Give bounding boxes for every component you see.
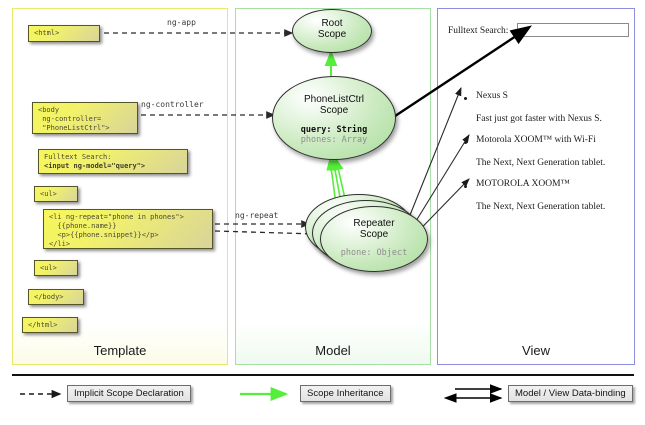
label-ng-app: ng-app bbox=[167, 18, 196, 27]
code-box-html-open: <html> bbox=[28, 25, 100, 42]
repeater-scope-prop-phone: phone: Object bbox=[321, 248, 427, 258]
view-item-snippet: The Next, Next Generation tablet. bbox=[476, 202, 605, 212]
root-scope-title-1: Root bbox=[293, 18, 371, 29]
node-root-scope: Root Scope bbox=[292, 9, 372, 53]
code-box-fulltext-search: Fulltext Search: <input ng-model="query"… bbox=[38, 149, 188, 174]
label-ng-repeat: ng-repeat bbox=[235, 211, 278, 220]
phonelist-scope-title-2: Scope bbox=[273, 105, 395, 116]
panel-model-label: Model bbox=[236, 343, 430, 358]
root-scope-title-2: Scope bbox=[293, 29, 371, 40]
view-item-snippet: Fast just got faster with Nexus S. bbox=[476, 114, 602, 124]
code-search-label: Fulltext Search: bbox=[44, 153, 111, 161]
phonelist-scope-prop-phones: phones: Array bbox=[273, 135, 395, 145]
node-phonelistctrl-scope: PhoneListCtrl Scope query: String phones… bbox=[272, 76, 396, 160]
legend-item-data-binding: Model / View Data-binding bbox=[508, 385, 633, 402]
phonelist-scope-title-1: PhoneListCtrl bbox=[273, 94, 395, 105]
view-rendered-page: Fulltext Search: Nexus S Fast just got f… bbox=[438, 9, 634, 364]
label-ng-controller: ng-controller bbox=[141, 100, 204, 109]
legend-item-implicit-scope: Implicit Scope Declaration bbox=[67, 385, 191, 402]
code-search-input: <input ng-model="query"> bbox=[44, 162, 145, 170]
legend-item-scope-inheritance: Scope Inheritance bbox=[300, 385, 391, 402]
diagram-canvas: Template Model View Fulltext Search: Nex… bbox=[0, 0, 645, 425]
panel-model: Model bbox=[235, 8, 431, 365]
legend: Implicit Scope Declaration Scope Inherit… bbox=[12, 374, 634, 418]
node-repeater-scope: Repeater Scope phone: Object bbox=[320, 206, 428, 272]
view-bullet bbox=[464, 185, 467, 188]
view-item-snippet: The Next, Next Generation tablet. bbox=[476, 158, 605, 168]
phonelist-scope-prop-query: query: String bbox=[273, 125, 395, 135]
code-box-ul-open: <ul> bbox=[34, 186, 78, 202]
view-search-label: Fulltext Search: bbox=[448, 26, 508, 36]
view-bullet bbox=[464, 97, 467, 100]
repeater-scope-title-1: Repeater bbox=[321, 218, 427, 229]
code-box-html-close: </html> bbox=[22, 317, 78, 333]
panel-view: View Fulltext Search: Nexus S Fast just … bbox=[437, 8, 635, 365]
code-box-body-close: </body> bbox=[28, 289, 84, 305]
repeater-scope-title-2: Scope bbox=[321, 229, 427, 240]
panel-template-label: Template bbox=[13, 343, 227, 358]
view-bullet bbox=[464, 141, 467, 144]
view-item-name: Nexus S bbox=[476, 91, 508, 101]
view-item-name: MOTOROLA XOOM™ bbox=[476, 179, 570, 189]
code-box-body-open: <body ng-controller= "PhoneListCtrl"> bbox=[32, 102, 138, 134]
view-search-input[interactable] bbox=[517, 23, 629, 37]
code-box-ul-close: <ul> bbox=[34, 260, 78, 276]
view-item-name: Motorola XOOM™ with Wi-Fi bbox=[476, 135, 596, 145]
code-box-li-ng-repeat: <li ng-repeat="phone in phones"> {{phone… bbox=[43, 209, 213, 249]
